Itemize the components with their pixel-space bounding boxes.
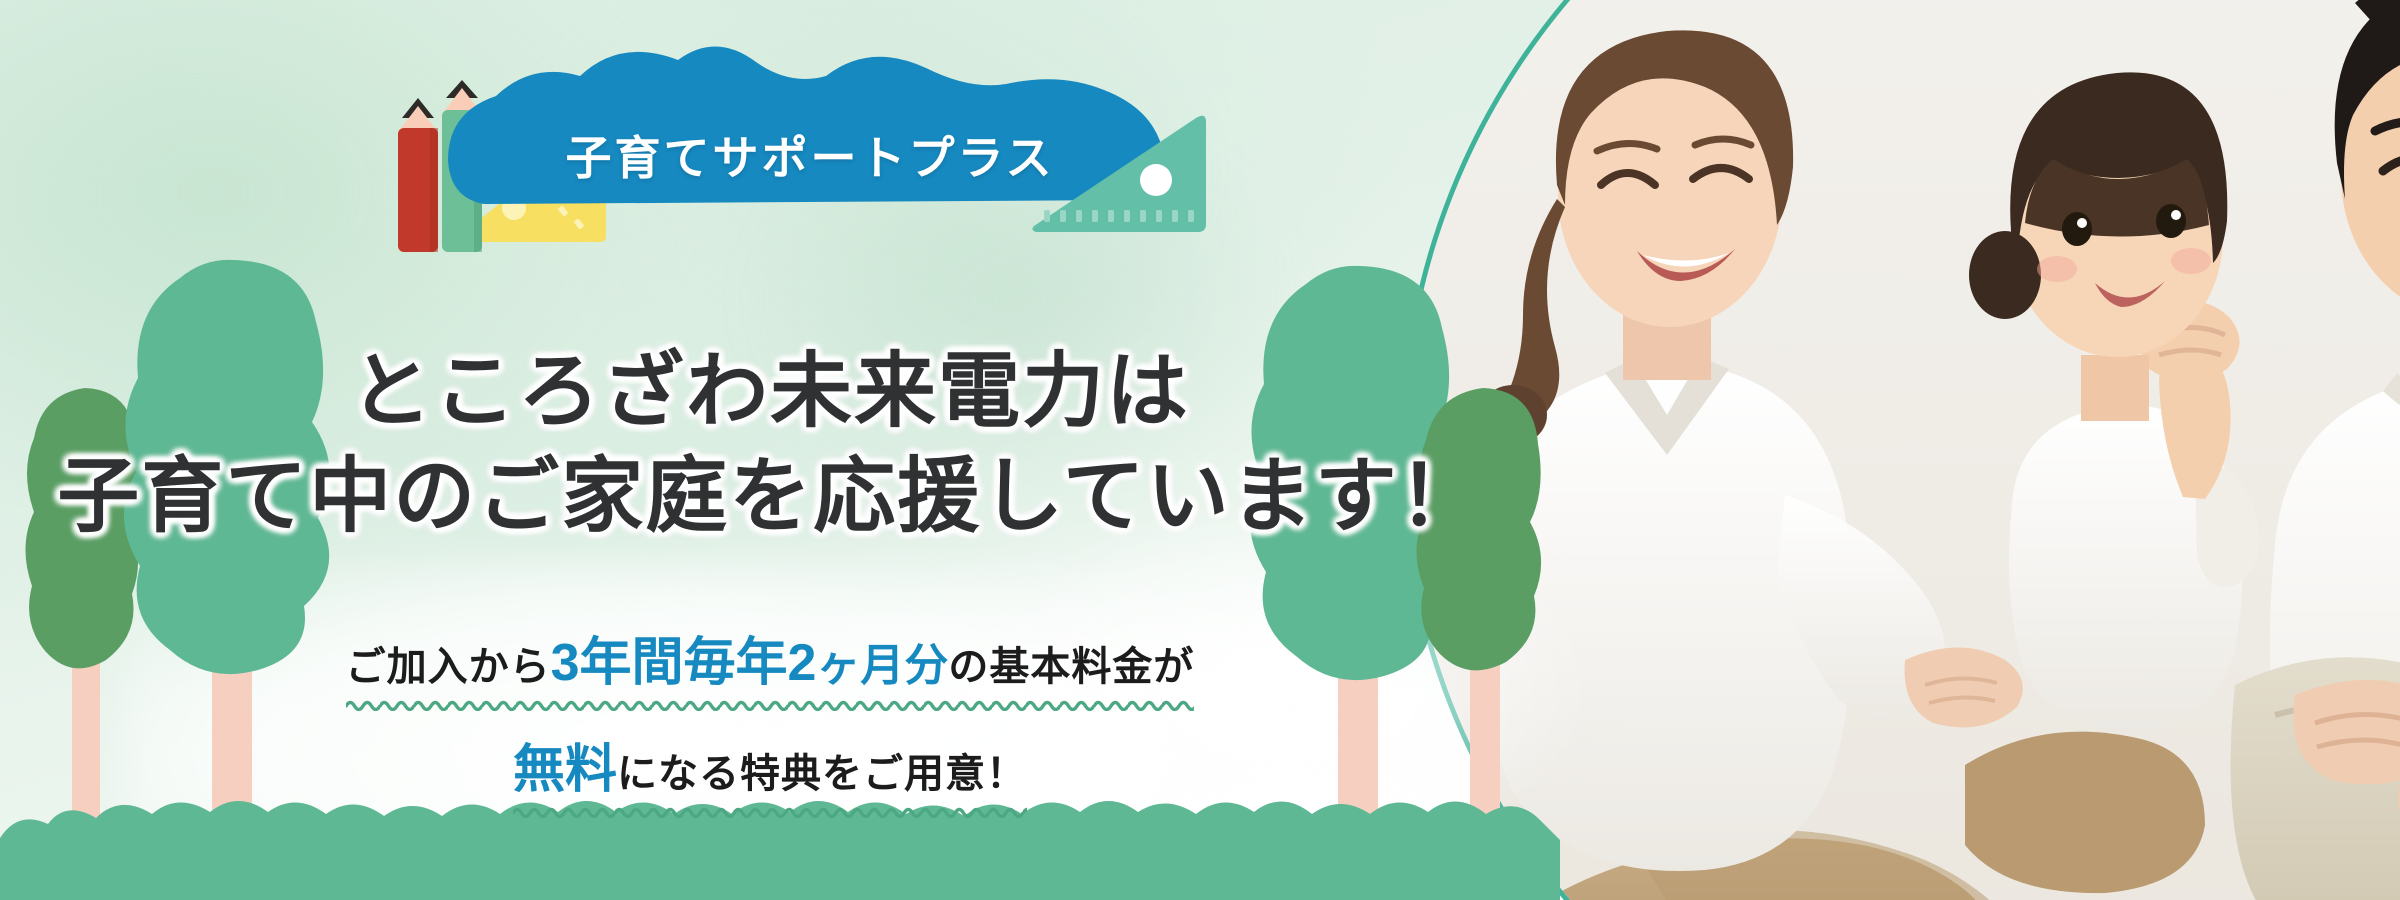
- subtext-line-1: ご加入から3年間毎年2ヶ月分の基本料金が: [346, 620, 1195, 695]
- subtext-highlight-free: 無料: [513, 741, 617, 799]
- subtext-line2-post: になる特典をご用意！: [617, 752, 1027, 796]
- subtext-line1-post: の基本料金が: [948, 645, 1194, 689]
- subtext-line1-pre: ご加入から: [346, 645, 551, 689]
- subtext-line-2: 無料になる特典をご用意！: [513, 727, 1027, 802]
- subtext-block: ご加入から3年間毎年2ヶ月分の基本料金が 無料になる特典をご用意！: [0, 620, 1540, 802]
- headline-line-2: 子育て中のご家庭を応援しています！: [0, 445, 1540, 550]
- subtext-highlight-months-num: 2: [788, 634, 817, 692]
- headline-line-1: ところざわ未来電力は: [0, 340, 1540, 445]
- page-title: ところざわ未来電力は 子育て中のご家庭を応援しています！: [0, 340, 1540, 550]
- wavy-underline: [513, 804, 1027, 818]
- red-pencil-icon: [398, 98, 438, 252]
- teal-triangle-ruler-icon: [1030, 108, 1215, 238]
- subtext-highlight-years: 3年間毎年: [551, 634, 788, 692]
- promo-banner: 子育てサポートプラス ところざわ未来電力は 子育て中のご家庭を応援しています！: [0, 0, 2400, 900]
- subtext-highlight-months-unit: ヶ月分: [816, 641, 948, 690]
- wavy-underline: [346, 697, 1195, 711]
